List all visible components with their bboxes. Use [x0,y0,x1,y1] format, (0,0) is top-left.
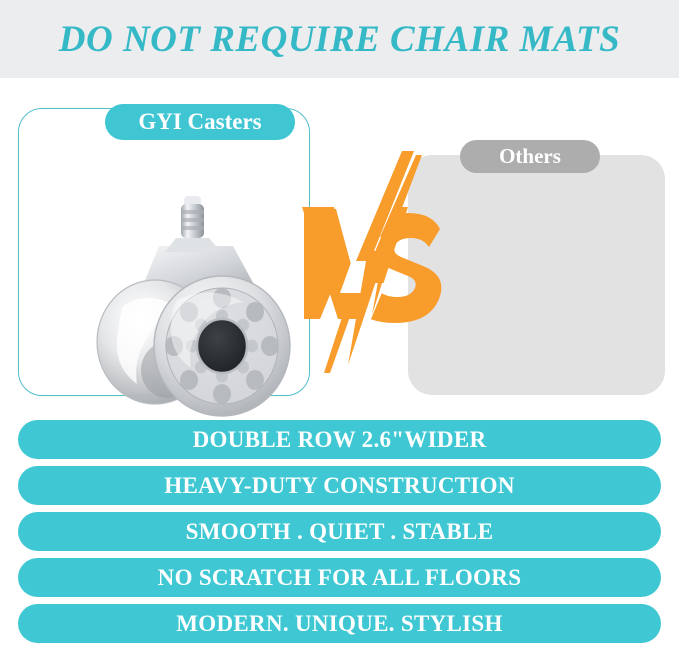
comparison-section: GYI Casters [0,78,679,415]
feature-bar: MODERN. UNIQUE. STYLISH [18,604,661,643]
feature-label: MODERN. UNIQUE. STYLISH [176,612,502,635]
feature-label: HEAVY-DUTY CONSTRUCTION [164,474,514,497]
feature-label: NO SCRATCH FOR ALL FLOORS [158,566,522,589]
others-badge-label: Others [499,144,561,169]
feature-label: SMOOTH . QUIET . STABLE [186,520,494,543]
feature-list: DOUBLE ROW 2.6"WIDER HEAVY-DUTY CONSTRUC… [0,420,679,650]
feature-bar: SMOOTH . QUIET . STABLE [18,512,661,551]
feature-bar: HEAVY-DUTY CONSTRUCTION [18,466,661,505]
feature-bar: NO SCRATCH FOR ALL FLOORS [18,558,661,597]
gyi-product-panel [18,108,310,396]
clear-dual-wheel-caster-icon [81,194,311,422]
feature-label: DOUBLE ROW 2.6"WIDER [193,428,487,451]
page-title: DO NOT REQUIRE CHAIR MATS [0,0,679,78]
feature-bar: DOUBLE ROW 2.6"WIDER [18,420,661,459]
others-badge: Others [460,140,600,173]
gyi-casters-badge: GYI Casters [105,104,295,140]
gyi-casters-badge-label: GYI Casters [138,109,261,135]
others-product-panel [408,155,665,395]
